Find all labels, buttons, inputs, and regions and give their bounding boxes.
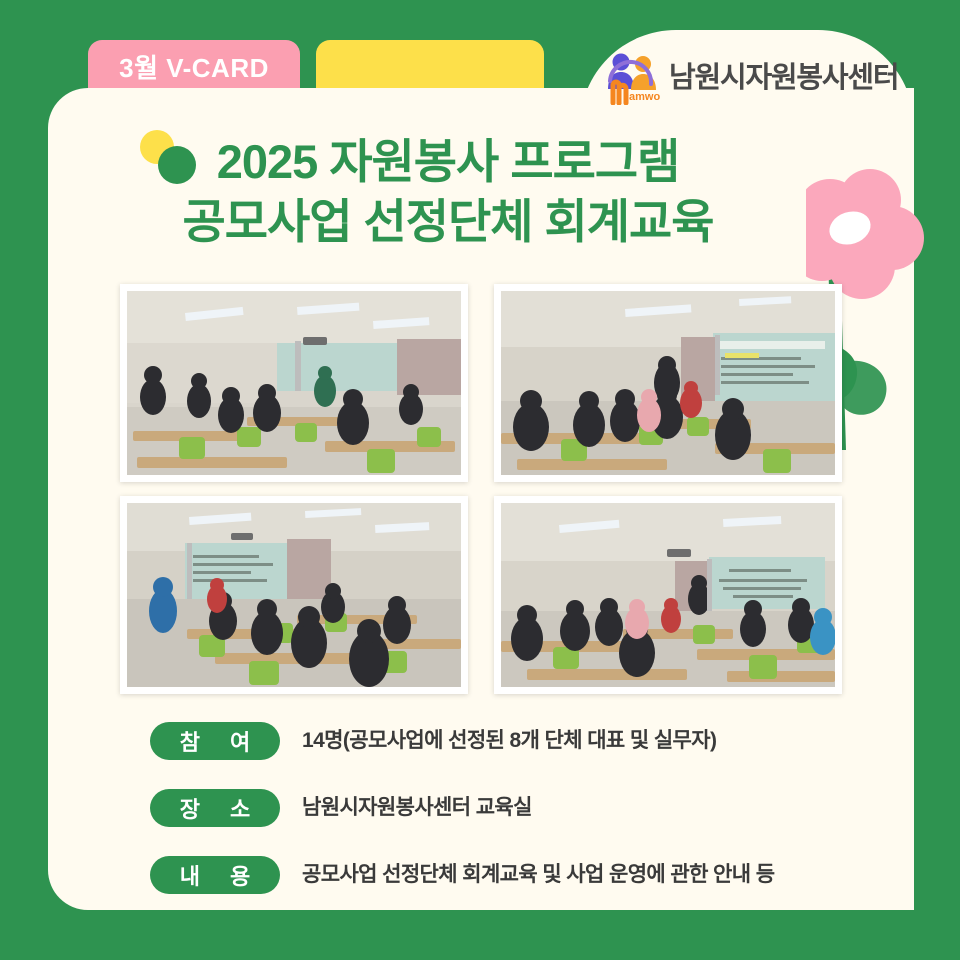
photo-thumbnail[interactable] xyxy=(494,496,842,694)
info-list: 참 여 14명(공모사업에 선정된 8개 단체 대표 및 실무자) 장 소 남원… xyxy=(150,722,910,894)
photo-thumbnail[interactable] xyxy=(120,284,468,482)
photo-thumbnail[interactable] xyxy=(494,284,842,482)
photo-thumbnail[interactable] xyxy=(120,496,468,694)
info-row: 내 용 공모사업 선정단체 회계교육 및 사업 운영에 관한 안내 등 xyxy=(150,856,910,894)
info-value-participants: 14명(공모사업에 선정된 8개 단체 대표 및 실무자) xyxy=(302,727,716,754)
photo-grid xyxy=(120,284,842,694)
info-row: 장 소 남원시자원봉사센터 교육실 xyxy=(150,789,910,827)
page-title: 2025 자원봉사 프로그램 공모사업 선정단체 회계교육 xyxy=(48,132,848,252)
info-badge-location: 장 소 xyxy=(150,789,280,827)
logo-mark-word: amwon xyxy=(629,91,660,103)
info-badge-participants: 참 여 xyxy=(150,722,280,760)
month-tab-label: 3월 V-CARD xyxy=(119,55,269,83)
title-line-1: 2025 자원봉사 프로그램 xyxy=(48,132,848,192)
info-value-content: 공모사업 선정단체 회계교육 및 사업 운영에 관한 안내 등 xyxy=(302,861,774,888)
info-row: 참 여 14명(공모사업에 선정된 8개 단체 대표 및 실무자) xyxy=(150,722,910,760)
info-badge-content: 내 용 xyxy=(150,856,280,894)
title-line-2: 공모사업 선정단체 회계교육 xyxy=(48,192,848,252)
center-logo-name: 남원시자원봉사센터 xyxy=(669,64,898,93)
v-card-poster: 3월 V-CARD amwon 남원시자원봉사센터 xyxy=(0,0,960,960)
namwon-figures-icon: amwon xyxy=(604,51,660,105)
info-value-location: 남원시자원봉사센터 교육실 xyxy=(302,794,532,821)
center-logo: amwon 남원시자원봉사센터 xyxy=(604,48,898,108)
